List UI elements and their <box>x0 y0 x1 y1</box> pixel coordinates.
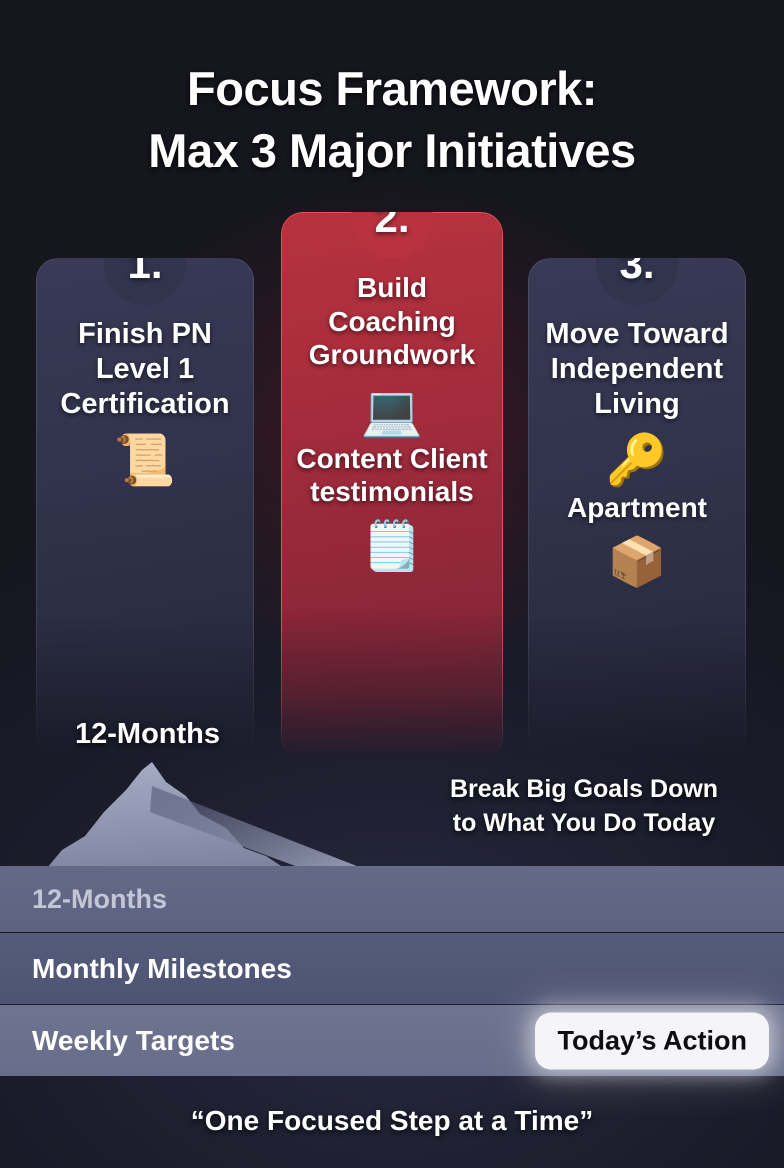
card-badge-3: 3. <box>596 223 678 305</box>
mountain-peak-label: 12-Months <box>75 718 220 751</box>
card-title-2: Build Coaching Groundwork <box>282 271 502 372</box>
ladder-label-weekly-targets: Weekly Targets <box>32 1025 235 1057</box>
card-title-1: Finish PN Level 1 Certification <box>37 317 253 421</box>
card-subtitle-3: Apartment <box>529 491 745 525</box>
keys-icon: 🔑 <box>529 435 745 485</box>
ladder-label-monthly-milestones: Monthly Milestones <box>32 953 292 985</box>
package-icon: 📦 <box>529 539 745 587</box>
initiative-card-2[interactable]: 2. Build Coaching Groundwork 💻 Content C… <box>281 212 503 760</box>
laptop-icon: 💻 <box>282 386 502 436</box>
card-subtitle-2: Content Client testimonials <box>282 442 502 509</box>
initiative-card-group: 1. Finish PN Level 1 Certification 📜 2. … <box>0 0 784 790</box>
goal-ladder: 12-Months Monthly Milestones Weekly Targ… <box>0 866 784 1076</box>
ladder-row-monthly-milestones[interactable]: Monthly Milestones <box>0 932 784 1004</box>
ladder-row-weekly-targets[interactable]: Weekly Targets Today’s Action <box>0 1004 784 1076</box>
infographic-canvas: Focus Framework: Max 3 Major Initiatives… <box>0 0 784 1168</box>
initiative-card-3[interactable]: 3. Move Toward Independent Living 🔑 Apar… <box>528 258 746 758</box>
card-badge-2: 2. <box>351 177 433 259</box>
card-badge-1: 1. <box>104 223 186 305</box>
ladder-row-12-months[interactable]: 12-Months <box>0 866 784 932</box>
certificate-icon: 📜 <box>37 435 253 485</box>
footer-quote: “One Focused Step at a Time” <box>0 1105 784 1137</box>
todays-action-pill[interactable]: Today’s Action <box>535 1012 769 1069</box>
notepad-icon: 🗒️ <box>282 523 502 571</box>
card-title-3: Move Toward Independent Living <box>529 317 745 421</box>
initiative-card-1[interactable]: 1. Finish PN Level 1 Certification 📜 <box>36 258 254 758</box>
ladder-label-12-months: 12-Months <box>32 884 167 915</box>
